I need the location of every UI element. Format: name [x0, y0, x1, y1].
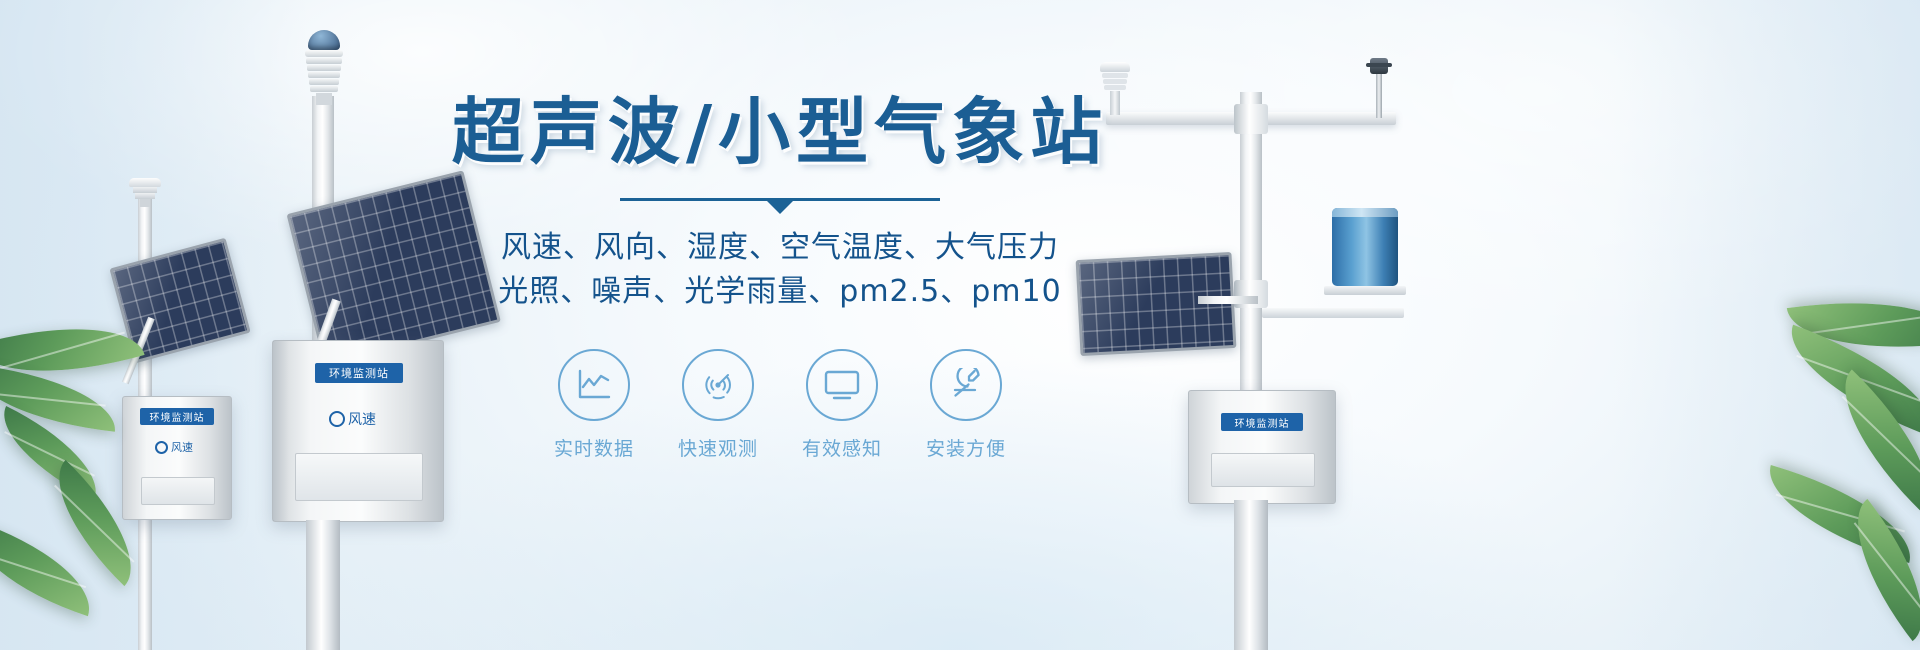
page-title: 超声波/小型气象站: [452, 96, 1108, 168]
mast-base-right: [1234, 500, 1268, 650]
brand-logo-left: 风速: [155, 439, 193, 455]
monitor-display-icon: [823, 369, 861, 401]
brand-text-center: 风速: [348, 409, 376, 429]
feature-item-fast-observation[interactable]: 快速观测: [679, 349, 757, 461]
brand-mark-icon: [329, 411, 345, 427]
feature-icon-circle: [806, 349, 878, 421]
title-divider: [620, 194, 940, 210]
brand-text-left: 风速: [171, 439, 193, 455]
feature-label: 安装方便: [926, 434, 1006, 461]
equipment-cabinet-right: 环境监测站: [1188, 390, 1336, 504]
rain-gauge-right: [1332, 208, 1398, 316]
ultrasonic-dome-sensor-center: [303, 30, 345, 104]
feature-list: 实时数据 快: [555, 349, 1005, 461]
radar-signal-icon: [700, 367, 736, 403]
mast-base-center: [306, 520, 340, 650]
pole-collar-right: [1234, 104, 1268, 134]
cabinet-label-center: 环境监测站: [315, 363, 403, 383]
feature-item-realtime-data[interactable]: 实时数据: [555, 349, 633, 461]
brand-mark-icon: [155, 441, 168, 454]
subtitle-line-1: 风速、风向、湿度、空气温度、大气压力: [501, 226, 1059, 270]
banner-content: 超声波/小型气象站 风速、风向、湿度、空气温度、大气压力 光照、噪声、光学雨量、…: [430, 96, 1130, 461]
feature-label: 有效感知: [802, 434, 882, 461]
panel-support-arm-right: [1198, 296, 1258, 304]
mounting-shelf-right: [1262, 308, 1404, 318]
cabinet-label-left: 环境监测站: [140, 408, 214, 425]
wind-vane-sensor-right: [1366, 58, 1392, 118]
feature-icon-circle: [558, 349, 630, 421]
equipment-cabinet-center: 环境监测站 风速: [272, 340, 444, 522]
chevron-down-icon: [767, 201, 793, 214]
line-chart-icon: [576, 368, 612, 402]
feature-label: 快速观测: [678, 434, 758, 461]
subtitle-line-2: 光照、噪声、光学雨量、pm2.5、pm10: [498, 270, 1061, 314]
feature-icon-circle: [682, 349, 754, 421]
brand-logo-center: 风速: [329, 409, 376, 429]
feature-item-effective-sensing[interactable]: 有效感知: [803, 349, 881, 461]
feature-icon-circle: [930, 349, 1002, 421]
feature-label: 实时数据: [554, 434, 634, 461]
product-banner: 环境监测站 风速 环境监测站: [0, 0, 1920, 650]
cabinet-label-right: 环境监测站: [1221, 413, 1303, 431]
wrench-icon: [947, 368, 985, 402]
equipment-cabinet-left: 环境监测站 风速: [122, 396, 232, 520]
feature-item-easy-installation[interactable]: 安装方便: [927, 349, 1005, 461]
ultrasonic-sensor-left: [126, 178, 164, 204]
